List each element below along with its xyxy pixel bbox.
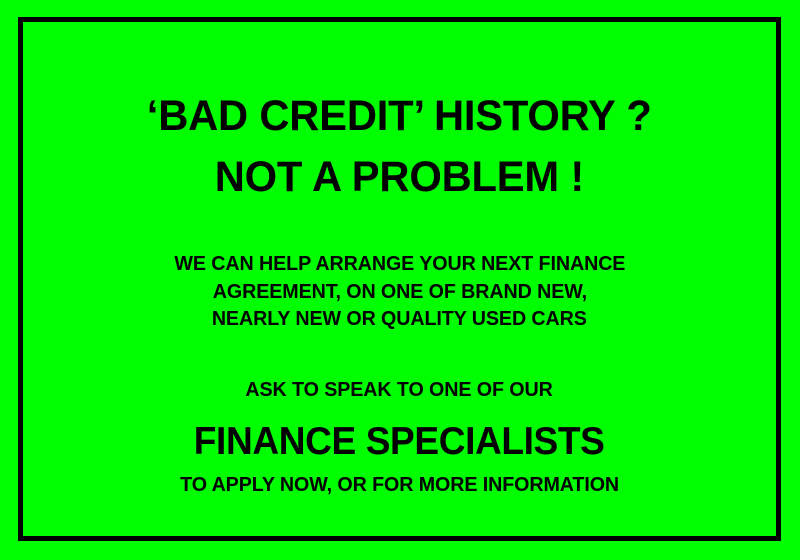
advertisement-poster: ‘BAD CREDIT’ HISTORY ? NOT A PROBLEM ! W… (0, 0, 800, 560)
body-line-1: WE CAN HELP ARRANGE YOUR NEXT FINANCE (174, 254, 625, 275)
body-text-block: WE CAN HELP ARRANGE YOUR NEXT FINANCE AG… (165, 254, 635, 330)
body-line-3: NEARLY NEW OR QUALITY USED CARS (212, 309, 587, 330)
headline-not-a-problem: NOT A PROBLEM ! (215, 156, 584, 199)
apply-now-line: TO APPLY NOW, OR FOR MORE INFORMATION (180, 475, 619, 496)
finance-specialists-heading: FINANCE SPECIALISTS (194, 422, 605, 461)
body-line-2: AGREEMENT, ON ONE OF BRAND NEW, (212, 282, 586, 303)
poster-content: ‘BAD CREDIT’ HISTORY ? NOT A PROBLEM ! W… (24, 22, 775, 536)
ask-to-speak-line: ASK TO SPEAK TO ONE OF OUR (246, 380, 553, 401)
headline-bad-credit-history: ‘BAD CREDIT’ HISTORY ? (147, 95, 652, 138)
